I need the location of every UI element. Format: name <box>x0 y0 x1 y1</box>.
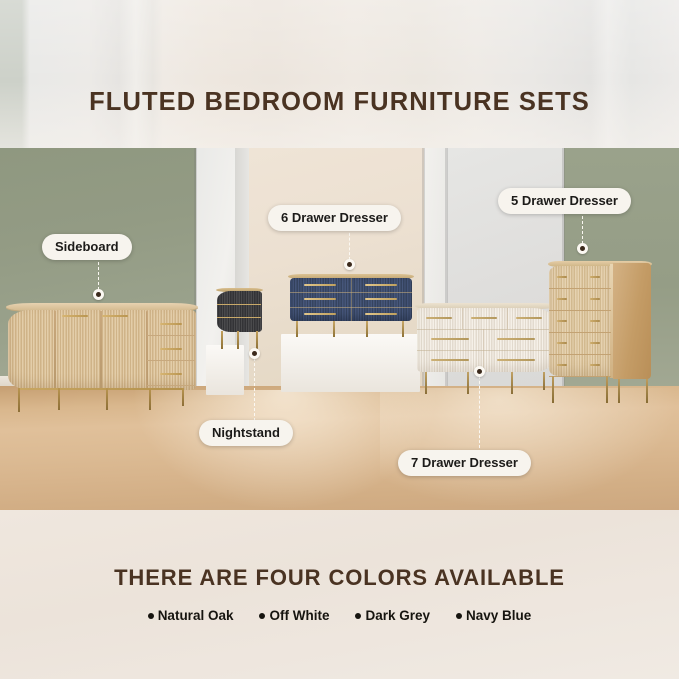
chest-drawer <box>549 333 611 355</box>
bullet-icon <box>259 613 265 619</box>
sideboard-leg <box>149 388 151 410</box>
nightstand-drawer <box>217 304 261 316</box>
drawer-handle <box>426 317 452 319</box>
dresser-drawer <box>351 278 412 292</box>
chest-drawer <box>549 355 611 377</box>
color-option-natural-oak[interactable]: Natural Oak <box>148 608 234 623</box>
chest-leg <box>618 379 620 403</box>
drawer-handle <box>365 284 397 286</box>
chest-drawer <box>549 311 611 333</box>
dresser-drawer <box>483 350 553 371</box>
drawer-handle <box>471 317 497 319</box>
callout-leader-sideboard <box>98 257 99 290</box>
drawer-handle <box>431 359 469 361</box>
dresser-leg <box>296 321 298 337</box>
drawer-handle <box>365 313 397 315</box>
furniture-six-drawer-dresser <box>288 274 414 336</box>
dresser-leg <box>402 321 404 337</box>
dresser-leg <box>333 321 335 337</box>
callout-leader-five-drawer <box>582 211 583 244</box>
dresser-drawer <box>290 307 351 321</box>
sideboard-drawer-stack <box>146 312 194 388</box>
dresser-drawer <box>507 308 553 329</box>
drawer-handle <box>304 284 336 286</box>
sideboard-rail <box>18 388 183 390</box>
drawer-handle <box>431 338 469 340</box>
callout-leader-seven-drawer <box>479 376 480 448</box>
drawer-handle <box>557 276 567 278</box>
color-option-dark-grey[interactable]: Dark Grey <box>355 608 430 623</box>
room-photo: Sideboard 6 Drawer Dresser 5 Drawer Dres… <box>0 148 679 510</box>
nightstand-leg <box>237 331 239 349</box>
dresser-drawer <box>290 278 351 292</box>
color-option-label: Natural Oak <box>158 608 234 623</box>
sideboard-door-seam <box>54 311 56 389</box>
drawer-handle <box>590 364 600 366</box>
drawer-handle <box>160 348 182 350</box>
dresser-leg <box>425 372 427 394</box>
drawer-handle <box>365 298 397 300</box>
nightstand-drawer <box>217 317 261 329</box>
dresser-fluted-body <box>290 278 412 321</box>
sideboard-drawer <box>147 312 195 336</box>
color-option-navy-blue[interactable]: Navy Blue <box>456 608 531 623</box>
sideboard-handle <box>102 315 128 317</box>
drawer-handle <box>304 313 336 315</box>
dresser-drawer <box>417 308 462 329</box>
dresser-drawer <box>351 307 412 321</box>
drawer-handle <box>590 276 600 278</box>
pedestal-nightstand <box>206 345 244 395</box>
drawer-handle <box>557 320 567 322</box>
dresser-drawer <box>417 329 483 350</box>
bullet-icon <box>456 613 462 619</box>
chest-drawer <box>549 289 611 311</box>
callout-label-sideboard[interactable]: Sideboard <box>42 234 132 260</box>
dresser-drawer <box>290 292 351 306</box>
bullet-icon <box>355 613 361 619</box>
drawer-handle <box>590 298 600 300</box>
footer-background <box>0 510 679 679</box>
drawer-handle <box>590 342 600 344</box>
drawer-handle <box>516 317 542 319</box>
drawer-handle <box>557 342 567 344</box>
sideboard-door-seam <box>100 311 102 389</box>
nightstand-leg <box>256 331 258 349</box>
dresser-drawer <box>462 308 507 329</box>
sideboard-leg <box>182 388 184 406</box>
nightstand-leg <box>221 331 223 349</box>
chest-leg <box>646 379 648 403</box>
furniture-nightstand <box>216 288 263 348</box>
callout-dot-sideboard <box>93 289 104 300</box>
pedestal-dresser <box>281 334 420 392</box>
callout-dot-nightstand <box>249 348 260 359</box>
drawer-handle <box>590 320 600 322</box>
callout-leader-nightstand <box>254 358 255 421</box>
drawer-handle <box>160 323 182 325</box>
dresser-leg <box>543 372 545 390</box>
drawer-handle <box>557 298 567 300</box>
sideboard-leg <box>58 388 60 410</box>
color-option-label: Dark Grey <box>365 608 430 623</box>
chest-leg <box>606 376 608 403</box>
floor-highlight <box>380 388 679 508</box>
callout-dot-seven-drawer <box>474 366 485 377</box>
dresser-drawer <box>417 350 483 371</box>
furniture-five-drawer-dresser <box>548 261 652 406</box>
dresser-leg <box>511 372 513 394</box>
color-option-off-white[interactable]: Off White <box>259 608 329 623</box>
drawer-handle <box>160 373 182 375</box>
color-option-label: Off White <box>269 608 329 623</box>
sideboard-handle <box>62 315 88 317</box>
callout-dot-five-drawer <box>577 243 588 254</box>
drawer-handle <box>497 359 535 361</box>
dresser-drawer <box>351 292 412 306</box>
bullet-icon <box>148 613 154 619</box>
callout-leader-six-drawer <box>349 228 350 260</box>
color-option-label: Navy Blue <box>466 608 531 623</box>
product-infographic: FLUTED BEDROOM FURNITURE SETS <box>0 0 679 679</box>
callout-label-six-drawer[interactable]: 6 Drawer Dresser <box>268 205 401 231</box>
dresser-leg <box>467 372 469 394</box>
sideboard-drawer <box>147 337 195 361</box>
sideboard-leg <box>18 388 20 412</box>
chest-side-panel <box>613 263 651 379</box>
footer-title: THERE ARE FOUR COLORS AVAILABLE <box>0 565 679 591</box>
drawer-handle <box>497 338 535 340</box>
furniture-sideboard <box>6 303 198 403</box>
sideboard-drawer <box>147 362 195 386</box>
sideboard-leg <box>106 388 108 410</box>
color-options-list: Natural Oak Off White Dark Grey Navy Blu… <box>0 608 679 623</box>
dresser-fluted-body <box>417 308 553 372</box>
page-title: FLUTED BEDROOM FURNITURE SETS <box>0 88 679 117</box>
furniture-seven-drawer-dresser <box>415 303 555 403</box>
callout-label-nightstand[interactable]: Nightstand <box>199 420 293 446</box>
dresser-drawer <box>483 329 553 350</box>
callout-dot-six-drawer <box>344 259 355 270</box>
callout-label-seven-drawer[interactable]: 7 Drawer Dresser <box>398 450 531 476</box>
callout-label-five-drawer[interactable]: 5 Drawer Dresser <box>498 188 631 214</box>
header-background <box>0 0 679 148</box>
drawer-handle <box>557 364 567 366</box>
chest-drawer <box>549 267 611 289</box>
chest-leg <box>552 376 554 403</box>
drawer-handle <box>304 298 336 300</box>
dresser-leg <box>366 321 368 337</box>
